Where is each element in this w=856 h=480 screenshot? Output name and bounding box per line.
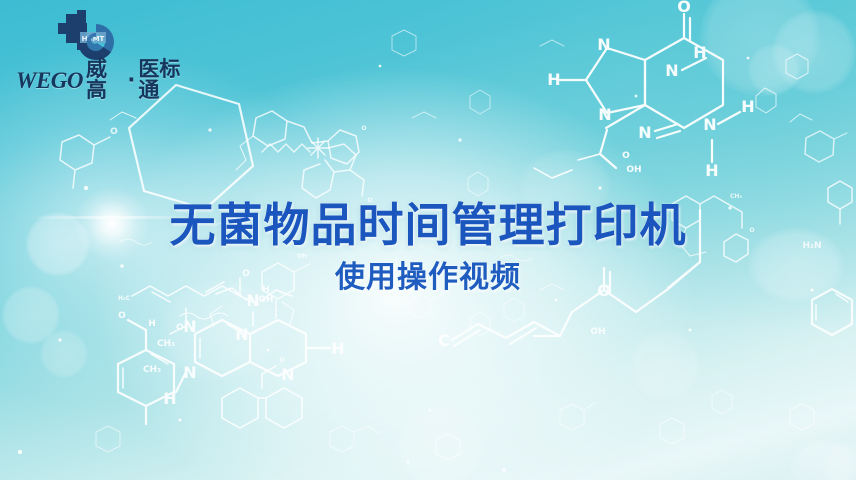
atom-label-O: O bbox=[279, 357, 284, 364]
atom-label-N: N bbox=[183, 317, 196, 336]
atom-label-OH: OH bbox=[258, 295, 273, 305]
atom-label-H: H bbox=[693, 43, 706, 62]
atom-label-H3C: H₃C bbox=[118, 295, 131, 302]
atom-label-H: H bbox=[331, 339, 344, 358]
molecule-star-burst: O bbox=[302, 138, 373, 204]
logo-separator: · bbox=[127, 70, 135, 91]
atom-label-N: N bbox=[638, 123, 651, 142]
atom-label-N: N bbox=[597, 35, 610, 54]
title-slide: .ln { fill:none; stroke:#ffffff; stroke-… bbox=[0, 0, 856, 480]
atom-label-O: O bbox=[361, 125, 366, 132]
title-block: 无菌物品时间管理打印机 使用操作视频 bbox=[0, 198, 856, 296]
atom-label-H: H bbox=[148, 319, 156, 329]
atom-label-O: O bbox=[118, 311, 126, 321]
atom-label-O: O bbox=[677, 0, 691, 16]
brand-logo: HSMT WEGO 威高 · 医标通 bbox=[16, 8, 196, 94]
atom-label-H: H bbox=[705, 161, 718, 180]
atom-label-H: H bbox=[741, 97, 754, 116]
atom-label-O: O bbox=[110, 127, 118, 137]
brand-logo-text: WEGO 威高 · 医标通 bbox=[16, 66, 196, 94]
atom-label-OH: OH bbox=[626, 165, 641, 175]
atom-label-C: C bbox=[438, 331, 450, 350]
atom-label-N: N bbox=[665, 61, 678, 80]
atom-label-H: H bbox=[163, 389, 176, 408]
molecule-zigzag-upper bbox=[262, 144, 310, 152]
atom-label-CH3: CH₃ bbox=[143, 365, 161, 375]
logo-latin-text: WEGO bbox=[16, 69, 83, 92]
molecule-guanine: O N H N N H N N H H O OH bbox=[534, 0, 755, 180]
logo-cn-text-2: 医标通 bbox=[138, 59, 196, 101]
molecule-badges-topright bbox=[756, 54, 847, 162]
atom-label-N: N bbox=[281, 365, 294, 384]
atom-label-O: O bbox=[176, 323, 184, 333]
molecule-cluster-topmid: O bbox=[236, 111, 367, 170]
molecule-cluster-topleft: O bbox=[60, 112, 136, 188]
atom-label-OH: OH bbox=[590, 327, 605, 337]
atom-label-N: N bbox=[598, 105, 611, 124]
atom-label-N: N bbox=[183, 363, 196, 382]
molecule-large-hexagon bbox=[129, 85, 253, 209]
page-title: 无菌物品时间管理打印机 bbox=[0, 198, 856, 252]
atom-label-CH3: CH₃ bbox=[157, 339, 175, 349]
page-subtitle: 使用操作视频 bbox=[0, 260, 856, 296]
atom-label-N: N bbox=[235, 325, 248, 344]
atom-label-H: H bbox=[547, 70, 560, 89]
atom-label-O: O bbox=[622, 151, 630, 161]
logo-cn-text-1: 威高 bbox=[86, 59, 124, 101]
atom-label-N: N bbox=[703, 115, 716, 134]
